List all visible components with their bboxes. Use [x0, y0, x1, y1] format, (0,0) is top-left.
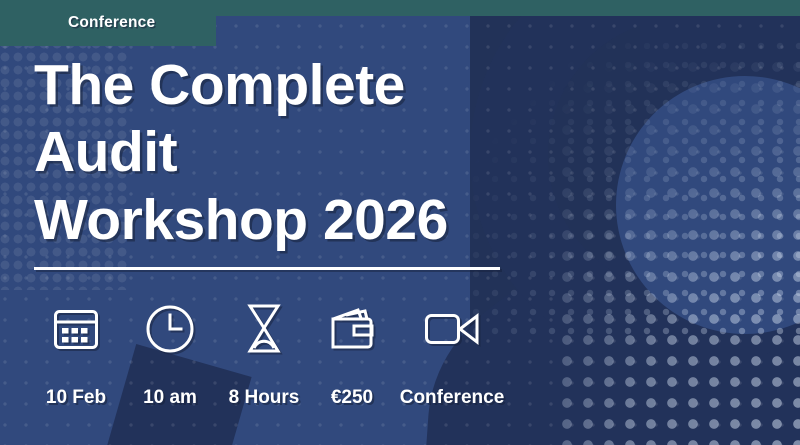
halftone-pattern-large — [560, 60, 800, 445]
title-underline-divider — [34, 267, 500, 270]
meta-item-duration: 8 Hours — [216, 303, 312, 409]
meta-label-format: Conference — [400, 387, 505, 409]
title-line-1: The Complete — [34, 52, 554, 119]
page-title: The Complete Audit Workshop 2026 — [34, 52, 554, 254]
meta-item-time: 10 am — [124, 303, 216, 409]
meta-label-date: 10 Feb — [46, 387, 106, 409]
title-line-2: Audit — [34, 119, 554, 186]
wallet-icon — [328, 303, 376, 355]
meta-label-duration: 8 Hours — [229, 387, 300, 409]
meta-label-price: €250 — [331, 387, 373, 409]
meta-label-time: 10 am — [143, 387, 197, 409]
calendar-icon — [53, 303, 99, 355]
event-meta-row: 10 Feb 10 am 8 Hours — [28, 303, 528, 409]
title-line-3: Workshop 2026 — [34, 187, 554, 254]
video-camera-icon — [424, 303, 480, 355]
category-badge-label: Conference — [68, 14, 155, 32]
meta-item-date: 10 Feb — [28, 303, 124, 409]
clock-icon — [145, 303, 195, 355]
hourglass-icon — [247, 303, 281, 355]
meta-item-price: €250 — [312, 303, 392, 409]
meta-item-format: Conference — [392, 303, 512, 409]
event-poster: Conference The Complete Audit Workshop 2… — [0, 0, 800, 445]
category-badge: Conference — [0, 0, 216, 46]
